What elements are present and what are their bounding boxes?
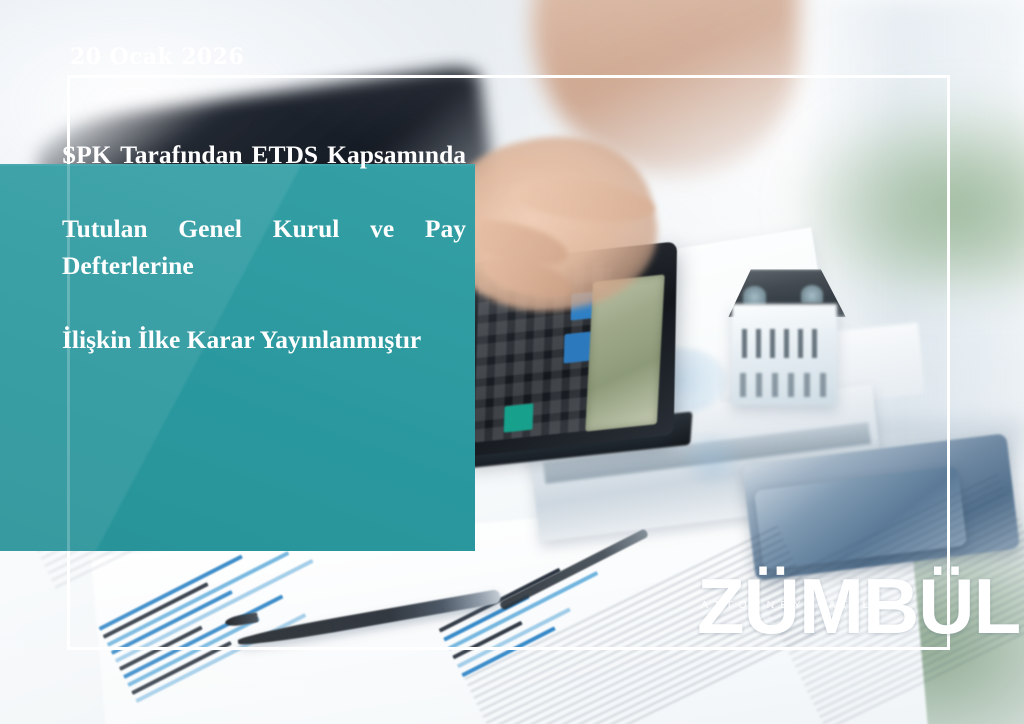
panel-content: 20 Ocak 2026 SPK Tarafından ETDS Kapsamı… (62, 0, 466, 387)
headline-line-2: Tutulan Genel Kurul ve Pay Defterlerine (62, 210, 466, 321)
logo[interactable]: ZÜMBÜL ATTORNEYS AT LAW (697, 562, 937, 650)
publication-date: 20 Ocak 2026 (70, 44, 244, 70)
headline-line-1: SPK Tarafından ETDS Kapsamında (62, 136, 466, 210)
headline-line-3: İlişkin İlke Karar Yayınlanmıştır (62, 321, 466, 358)
headline: SPK Tarafından ETDS Kapsamında Tutulan G… (62, 136, 466, 358)
logo-tagline: ATTORNEYS AT LAW (701, 599, 903, 611)
news-banner-image: 20 Ocak 2026 SPK Tarafından ETDS Kapsamı… (0, 0, 1024, 724)
